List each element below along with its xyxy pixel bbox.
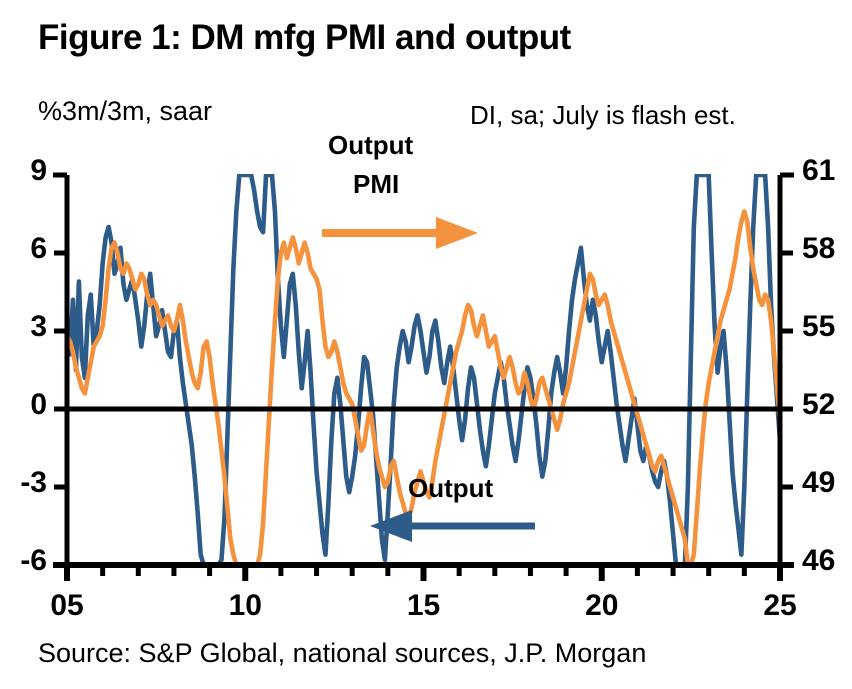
arrow-right-orange <box>322 217 478 249</box>
page-title: Figure 1: DM mfg PMI and output <box>38 18 571 58</box>
y-axis-label-right: 52 <box>802 388 835 422</box>
subtitle-left-axis-units: %3m/3m, saar <box>38 96 212 127</box>
y-axis-label-left: 9 <box>30 154 47 188</box>
x-axis-label: 25 <box>758 589 802 623</box>
y-axis-label-right: 55 <box>802 310 835 344</box>
x-axis-label: 10 <box>223 589 267 623</box>
chart-geometry <box>53 175 852 581</box>
arrow-left-blue <box>370 510 535 542</box>
annotation-output: Output <box>408 473 493 504</box>
y-axis-label-right: 46 <box>802 544 835 578</box>
y-axis-label-left: 3 <box>30 310 47 344</box>
y-axis-label-right: 61 <box>802 154 835 188</box>
y-axis-label-left: 6 <box>30 232 47 266</box>
y-axis-label-right: 58 <box>802 232 835 266</box>
annotation-output-pmi-line1: Output <box>328 130 413 161</box>
x-axis-label: 05 <box>45 589 89 623</box>
annotation-output-pmi-line2: PMI <box>353 169 399 200</box>
figure-container: Figure 1: DM mfg PMI and output %3m/3m, … <box>0 0 852 689</box>
y-axis-label-right: 49 <box>802 466 835 500</box>
x-axis-label: 15 <box>402 589 446 623</box>
y-axis-label-left: -3 <box>20 466 47 500</box>
y-axis-label-left: -6 <box>20 544 47 578</box>
source-note: Source: S&P Global, national sources, J.… <box>38 638 646 669</box>
subtitle-right-axis-units: DI, sa; July is flash est. <box>470 100 736 131</box>
x-axis-label: 20 <box>580 589 624 623</box>
y-axis-label-left: 0 <box>30 388 47 422</box>
